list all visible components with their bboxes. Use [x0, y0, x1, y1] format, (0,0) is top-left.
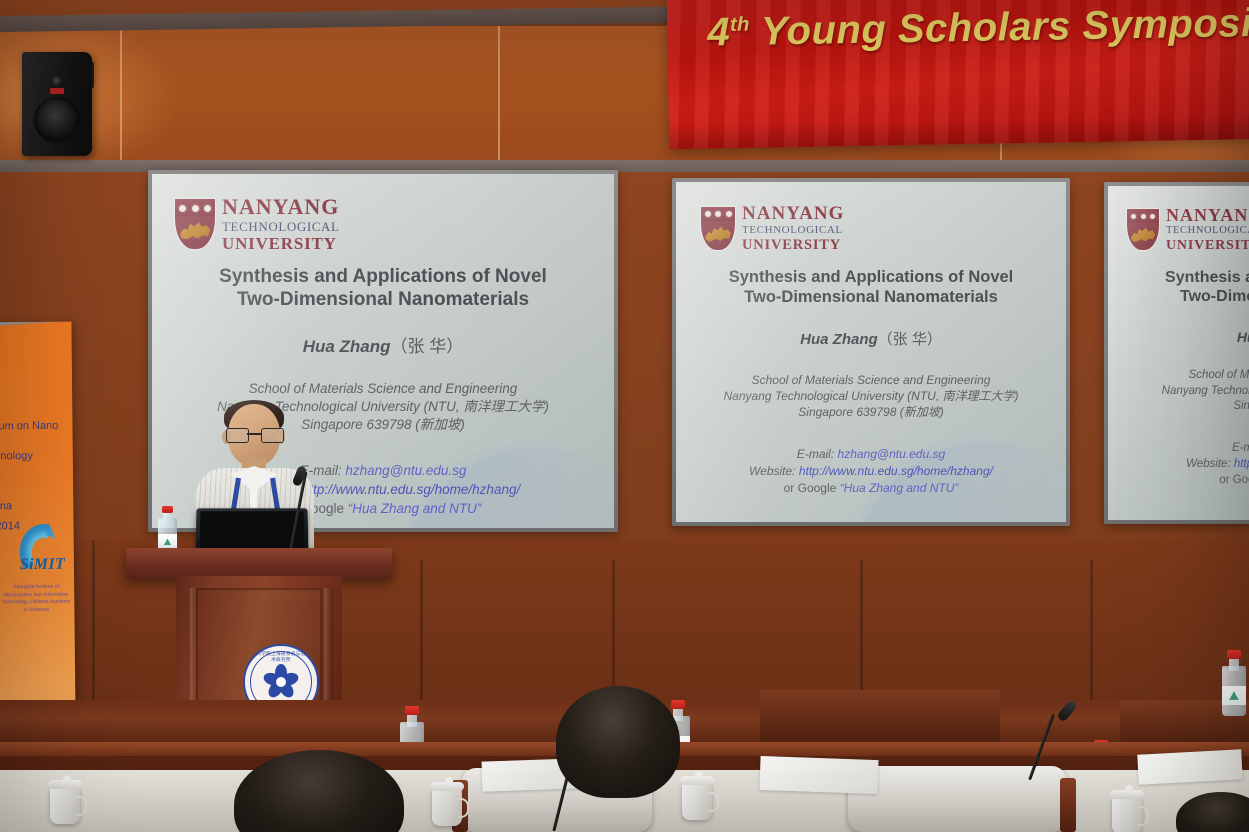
chair-arm: [1060, 778, 1076, 832]
projection-screen-3: NANYANG TECHNOLOGICAL UNIVERSITY Synthes…: [1108, 186, 1249, 520]
google-row: or Google “Hua Zhang and NTU”: [676, 480, 1066, 497]
slide-author-row: Hua Zhang（张 华）: [1108, 328, 1249, 347]
flower-icon: [263, 664, 299, 700]
slide-author-row: Hua Zhang（张 华）: [676, 330, 1066, 350]
tea-cup: [50, 786, 80, 824]
ntu-crest-icon: [700, 206, 736, 251]
affil-line3: Singapore 639798 (新加坡): [676, 404, 1066, 420]
slide-swoosh: [383, 434, 614, 528]
banner-ordinal: 4: [707, 10, 731, 54]
website-row: Website: http://www.ntu.edu.sg/home/hzha…: [1108, 456, 1249, 472]
slide-author: Hua Zhang: [1237, 329, 1249, 345]
google-row: or Google “Hua Zhang and NTU”: [1108, 472, 1249, 488]
simit-wordmark: SiMIT: [20, 556, 65, 574]
slide-swoosh: [835, 428, 1066, 522]
website-label: Website:: [1186, 458, 1231, 470]
bottle-cap: [671, 700, 684, 709]
slide-swoosh: [374, 422, 614, 528]
website-link[interactable]: http://www.ntu.edu.sg/home/hzhang/: [799, 464, 993, 478]
slide-title-line1: Synthesis and Applications of Novel: [1108, 268, 1249, 287]
symposium-banner: 4th Young Scholars Symposium on Nano: [667, 0, 1249, 149]
slide-content-2: NANYANG TECHNOLOGICAL UNIVERSITY Synthes…: [676, 182, 1066, 522]
lion-icon: [705, 223, 731, 245]
ntu-logo: NANYANG TECHNOLOGICAL UNIVERSITY: [700, 204, 844, 253]
emblem-chinese-text: 中国科学院上海微系统与信息技术研究所: [245, 651, 317, 663]
document-page: [1137, 749, 1242, 784]
email-label: E-mail:: [797, 447, 834, 461]
banner-title: 4th Young Scholars Symposium on Nano: [707, 1, 1249, 56]
website-row: Website: http://www.ntu.edu.sg/home/hzha…: [676, 463, 1066, 480]
google-prefix: or Google: [1219, 474, 1249, 486]
ntu-line2: TECHNOLOGICAL: [742, 225, 843, 236]
presenter-glasses: [226, 428, 282, 441]
water-bottle: [1222, 650, 1246, 716]
slide-contact: E-mail: hzhang@ntu.edu.sg Website: http:…: [676, 446, 1066, 496]
website-label: Website:: [749, 464, 795, 478]
ntu-line1: NANYANG: [1166, 206, 1249, 224]
google-query: “Hua Zhang and NTU”: [348, 501, 482, 516]
affil-line1: School of Materials Science and Engineer…: [152, 380, 614, 398]
website-link[interactable]: http://www.ntu.edu.sg/home/hzhang/: [302, 482, 520, 497]
slide-title: Synthesis and Applications of Novel Two-…: [676, 268, 1066, 308]
document-page: [759, 756, 878, 794]
google-prefix: or Google: [784, 481, 837, 495]
bottle-cap: [162, 506, 173, 513]
affil-line2: Nanyang Technological University (NTU, 南…: [676, 388, 1066, 404]
tweeter-icon: [52, 76, 61, 85]
email-link[interactable]: hzhang@ntu.edu.sg: [345, 463, 466, 478]
simit-subtitle: Shanghai Institute of Microsystem and In…: [0, 584, 72, 615]
ntu-line2: TECHNOLOGICAL: [1166, 226, 1249, 237]
ntu-logo: NANYANG TECHNOLOGICAL UNIVERSITY: [1126, 206, 1249, 253]
slide-author-row: Hua Zhang（张 华）: [152, 336, 614, 359]
rollup-line2: chnology: [0, 450, 33, 462]
website-link[interactable]: http://www.ntu.edu.sg/home/hzhang/: [1234, 458, 1249, 470]
ntu-line3: UNIVERSITY: [222, 235, 337, 252]
email-row: E-mail: hzhang@ntu.edu.sg: [1108, 440, 1249, 456]
slide-affiliation: School of Materials Science and Engineer…: [676, 372, 1066, 421]
woofer-icon: [34, 97, 80, 143]
slide-content-3: NANYANG TECHNOLOGICAL UNIVERSITY Synthes…: [1108, 186, 1249, 520]
ntu-logo: NANYANG TECHNOLOGICAL UNIVERSITY: [174, 196, 340, 252]
affil-line1: School of Materials Science and Engineer…: [1108, 368, 1249, 384]
slide-title: Synthesis and Applications of Novel Two-…: [1108, 268, 1249, 306]
laptop-screen: [200, 511, 305, 551]
lion-icon: [1131, 224, 1155, 245]
ntu-line2: TECHNOLOGICAL: [222, 220, 340, 233]
lion-icon: [180, 218, 210, 244]
side-desk-block: [760, 690, 1000, 748]
simit-logo: SiMIT: [5, 522, 64, 581]
affil-line2: Nanyang Technological University (NTU, 南…: [1108, 384, 1249, 400]
slide-title-line1: Synthesis and Applications of Novel: [152, 266, 614, 289]
slide-contact: E-mail: hzhang@ntu.edu.sg Website: http:…: [1108, 440, 1249, 488]
ntu-line3: UNIVERSITY: [1166, 239, 1249, 253]
slide-author-cn: （张 华）: [391, 337, 464, 356]
wall-seam: [498, 26, 500, 166]
ntu-line1: NANYANG: [742, 204, 844, 223]
podium-top: [126, 548, 392, 578]
rollup-top-bar: [0, 322, 77, 326]
banner-ordinal-suffix: th: [730, 13, 750, 35]
rollup-line1: sium on Nano: [0, 420, 58, 433]
slide-title-line1: Synthesis and Applications of Novel: [676, 268, 1066, 288]
ntu-crest-icon: [1126, 208, 1160, 251]
loudspeaker: [22, 52, 92, 156]
bottle-cap: [1227, 650, 1240, 659]
wall-seam: [120, 26, 122, 166]
slide-swoosh: [826, 416, 1066, 522]
speaker-brand-badge: [50, 88, 64, 94]
slide-affiliation: School of Materials Science and Engineer…: [1108, 368, 1249, 415]
banner-main-text: Young Scholars Symposium on Nano: [760, 0, 1249, 54]
email-link[interactable]: hzhang@ntu.edu.sg: [838, 447, 946, 461]
ntu-line1: NANYANG: [222, 196, 339, 218]
rollup-line3: hina: [0, 500, 12, 512]
conference-chair: [848, 766, 1066, 832]
ntu-crest-icon: [174, 198, 216, 250]
slide-author-cn: （张 华）: [878, 331, 942, 348]
tea-cup: [1112, 796, 1142, 832]
audience-head: [556, 686, 680, 798]
slide-title: Synthesis and Applications of Novel Two-…: [152, 266, 614, 312]
tea-cup: [682, 782, 712, 820]
email-label: E-mail:: [1232, 442, 1249, 454]
slide-title-line2: Two-Dimensional Nanomaterials: [676, 288, 1066, 308]
ntu-line3: UNIVERSITY: [742, 238, 841, 253]
bottle-cap: [405, 706, 418, 715]
projection-screen-2: NANYANG TECHNOLOGICAL UNIVERSITY Synthes…: [676, 182, 1066, 522]
slide-author: Hua Zhang: [303, 337, 391, 356]
affil-line3: Singapore 639798 (新加坡): [1108, 399, 1249, 415]
conference-photo: 4th Young Scholars Symposium on Nano: [0, 0, 1249, 832]
slide-author: Hua Zhang: [800, 331, 878, 348]
slide-title-line2: Two-Dimensional Nanomaterials: [1108, 287, 1249, 306]
slide-title-line2: Two-Dimensional Nanomaterials: [152, 289, 614, 312]
email-row: E-mail: hzhang@ntu.edu.sg: [676, 446, 1066, 463]
affil-line1: School of Materials Science and Engineer…: [676, 372, 1066, 388]
tea-cup: [432, 788, 462, 826]
google-query: “Hua Zhang and NTU”: [840, 481, 959, 495]
